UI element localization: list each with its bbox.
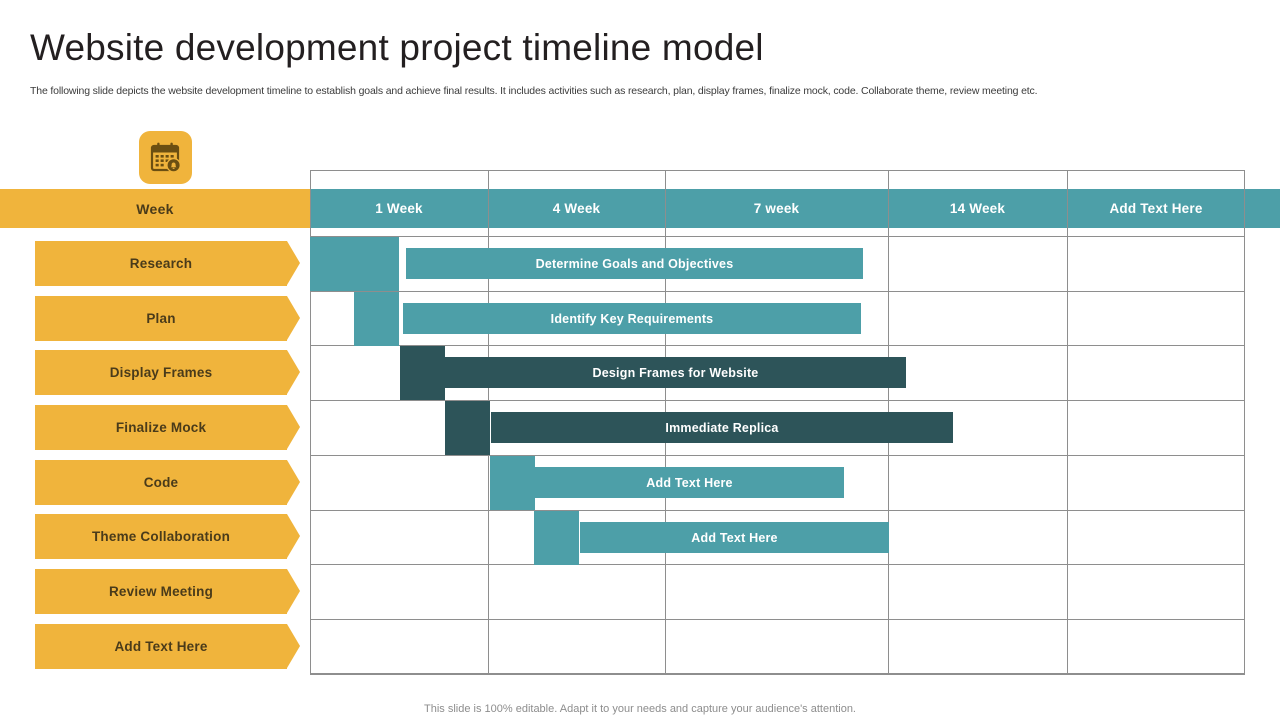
row-label-arrow-icon: [287, 405, 300, 449]
row-label-arrow-icon: [287, 624, 300, 668]
grid-row-line: [310, 291, 1245, 292]
row-label-text: Add Text Here: [114, 639, 207, 654]
timeline-bar-2[interactable]: Identify Key Requirements: [403, 303, 861, 334]
grid-row-line: [310, 564, 1245, 565]
grid-row-line: [310, 619, 1245, 620]
row-label-6[interactable]: Theme Collaboration: [35, 514, 287, 559]
timeline-step-block-6[interactable]: [534, 511, 579, 565]
timeline-bar-5[interactable]: Add Text Here: [535, 467, 844, 498]
page-title: Website development project timeline mod…: [30, 26, 764, 70]
row-label-8[interactable]: Add Text Here: [35, 624, 287, 669]
timeline-bar-4[interactable]: Immediate Replica: [491, 412, 953, 443]
column-header-5[interactable]: Add Text Here: [1067, 189, 1245, 228]
row-label-arrow-icon: [287, 460, 300, 504]
row-label-4[interactable]: Finalize Mock: [35, 405, 287, 450]
calendar-alarm-icon: [139, 131, 192, 184]
row-label-text: Review Meeting: [109, 584, 213, 599]
row-label-arrow-icon: [287, 296, 300, 340]
column-header-2[interactable]: 4 Week: [488, 189, 665, 228]
timeline-step-block-2[interactable]: [354, 292, 399, 346]
column-header-1[interactable]: 1 Week: [310, 189, 488, 228]
row-label-text: Plan: [146, 311, 175, 326]
grid-row-line: [310, 345, 1245, 346]
row-label-arrow-icon: [287, 514, 300, 558]
week-corner-label: Week: [0, 189, 310, 228]
row-label-arrow-icon: [287, 350, 300, 394]
row-label-arrow-icon: [287, 569, 300, 613]
grid-row-line: [310, 674, 1245, 675]
grid-row-line: [310, 510, 1245, 511]
timeline-step-block-1[interactable]: [310, 237, 399, 291]
grid-row-line: [310, 236, 1245, 237]
row-label-3[interactable]: Display Frames: [35, 350, 287, 395]
week-corner-label-text: Week: [136, 201, 174, 217]
row-label-text: Research: [130, 256, 192, 271]
row-label-7[interactable]: Review Meeting: [35, 569, 287, 614]
calendar-alarm-glyph: [149, 141, 183, 175]
row-label-arrow-icon: [287, 241, 300, 285]
row-label-text: Code: [144, 475, 179, 490]
footer-note: This slide is 100% editable. Adapt it to…: [0, 703, 1280, 715]
row-label-1[interactable]: Research: [35, 241, 287, 286]
row-label-2[interactable]: Plan: [35, 296, 287, 341]
row-label-text: Display Frames: [110, 365, 213, 380]
grid-row-line: [310, 455, 1245, 456]
row-label-text: Theme Collaboration: [92, 529, 230, 544]
column-header-4[interactable]: 14 Week: [888, 189, 1067, 228]
timeline-step-block-4[interactable]: [445, 401, 490, 455]
timeline-bar-3[interactable]: Design Frames for Website: [445, 357, 906, 388]
grid-column-line: [1067, 170, 1068, 674]
timeline-step-block-5[interactable]: [490, 456, 535, 510]
timeline-bar-1[interactable]: Determine Goals and Objectives: [406, 248, 863, 279]
page-subtitle: The following slide depicts the website …: [30, 84, 1037, 98]
timeline-bar-6[interactable]: Add Text Here: [580, 522, 889, 553]
column-header-3[interactable]: 7 week: [665, 189, 888, 228]
row-label-5[interactable]: Code: [35, 460, 287, 505]
row-label-text: Finalize Mock: [116, 420, 206, 435]
timeline-step-block-3[interactable]: [400, 346, 445, 400]
